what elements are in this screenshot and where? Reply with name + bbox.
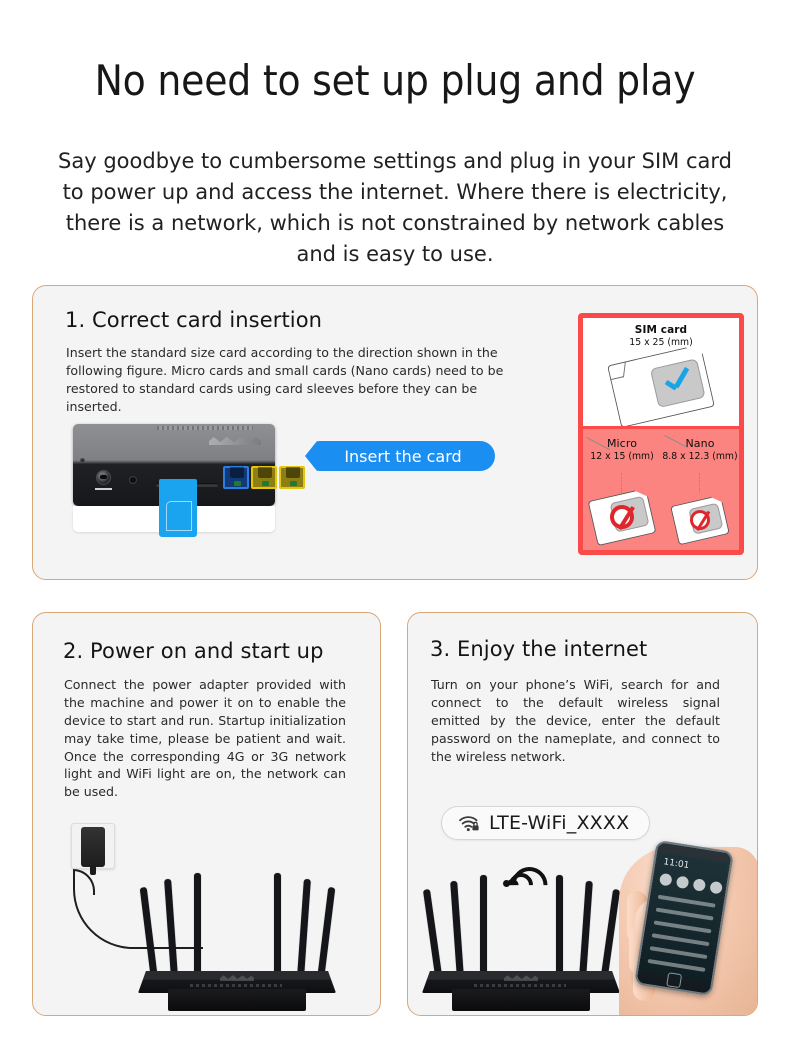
- leader-line: [621, 473, 622, 493]
- power-adapter-icon: [81, 827, 105, 867]
- standard-sim-outline: [607, 344, 715, 428]
- list-item: [648, 959, 706, 972]
- sim-card-name: SIM card: [583, 324, 739, 336]
- nano-sim-cell: Nano 8.8 x 12.3 (mm): [661, 429, 739, 550]
- quick-settings-toggles: [659, 873, 723, 895]
- wifi-dot: [503, 880, 510, 887]
- sim-card-dimensions: 15 x 25 (mm): [583, 337, 739, 348]
- standard-sim-figure: [613, 354, 709, 418]
- list-item: [656, 908, 714, 921]
- insert-the-card-callout: Insert the card: [305, 441, 495, 471]
- router-stand: [168, 989, 306, 1011]
- step-2-body: Connect the power adapter provided with …: [64, 676, 346, 801]
- page-title: No need to set up plug and play: [0, 56, 790, 106]
- list-item: [652, 933, 710, 946]
- step-2-title: 2. Power on and start up: [63, 639, 324, 663]
- micro-sim-labels: Micro 12 x 15 (mm): [583, 429, 661, 462]
- page-subtitle: Say goodbye to cumbersome settings and p…: [55, 146, 735, 270]
- sim-notch: [606, 362, 625, 381]
- step-3-body: Turn on your phone’s WiFi, search for an…: [431, 676, 720, 765]
- step-1-title: 1. Correct card insertion: [65, 308, 322, 332]
- home-button-icon: [666, 972, 682, 988]
- enjoy-internet-illustration: 11:01: [408, 837, 758, 1015]
- nano-sim-dimensions: 8.8 x 12.3 (mm): [661, 451, 739, 462]
- sim-not-allowed-section: Micro 12 x 15 (mm) Nano 8.8 x 12.3 (mm): [583, 426, 739, 550]
- micro-sim-cell: Micro 12 x 15 (mm): [583, 429, 661, 550]
- wifi-lock-icon: [458, 814, 480, 832]
- vent-grille: [157, 426, 253, 430]
- nano-sim-figure: [670, 495, 730, 546]
- step-card-3: 3. Enjoy the internet Turn on your phone…: [407, 612, 758, 1016]
- lan-port-icon: [251, 466, 277, 489]
- nano-sim-labels: Nano 8.8 x 12.3 (mm): [661, 429, 739, 462]
- router-illustration: [138, 865, 336, 1015]
- phone-clock: 11:01: [663, 857, 690, 871]
- toggle-icon: [692, 878, 706, 892]
- sim-allowed-section: SIM card 15 x 25 (mm): [583, 318, 739, 426]
- insert-the-card-label: Insert the card: [344, 447, 461, 466]
- phone-screen: 11:01: [640, 852, 728, 981]
- sim-allowed-labels: SIM card 15 x 25 (mm): [583, 318, 739, 348]
- list-item: [650, 946, 708, 959]
- reset-button-hole: [129, 476, 137, 484]
- brand-logo: [504, 974, 538, 981]
- ssid-label: LTE-WiFi_XXXX: [489, 812, 629, 834]
- step-3-title: 3. Enjoy the internet: [430, 637, 647, 661]
- toggle-icon: [659, 873, 673, 887]
- power-on-illustration: [33, 815, 381, 1015]
- wifi-signal-icon: [504, 843, 550, 885]
- infographic-page: No need to set up plug and play Say good…: [0, 0, 790, 1055]
- brand-logo: [209, 435, 261, 445]
- screw-icon: [80, 458, 85, 463]
- wifi-network-list: [646, 895, 715, 981]
- list-item: [658, 895, 716, 908]
- step-1-body: Insert the standard size card according …: [66, 344, 526, 416]
- toggle-icon: [676, 875, 690, 889]
- wan-port-icon: [223, 466, 249, 489]
- lan-port-icon: [279, 466, 305, 489]
- step-card-2: 2. Power on and start up Connect the pow…: [32, 612, 381, 1016]
- micro-sim-figure: [588, 488, 657, 546]
- jack-label-line: [95, 488, 112, 490]
- sim-size-guide-panel: SIM card 15 x 25 (mm) Micro: [578, 313, 744, 555]
- ethernet-port-group: [223, 466, 305, 489]
- micro-sim-dimensions: 12 x 15 (mm): [583, 451, 661, 462]
- micro-sim-name: Micro: [583, 437, 661, 450]
- default-ssid-chip: LTE-WiFi_XXXX: [441, 806, 650, 840]
- list-item: [654, 920, 712, 933]
- power-jack-icon: [96, 470, 111, 485]
- brand-logo: [220, 974, 254, 981]
- step-card-1: 1. Correct card insertion Insert the sta…: [32, 285, 758, 580]
- toggle-icon: [709, 881, 723, 895]
- leader-line: [699, 473, 700, 493]
- sim-card-graphic: [159, 479, 197, 537]
- router-stand: [452, 989, 590, 1011]
